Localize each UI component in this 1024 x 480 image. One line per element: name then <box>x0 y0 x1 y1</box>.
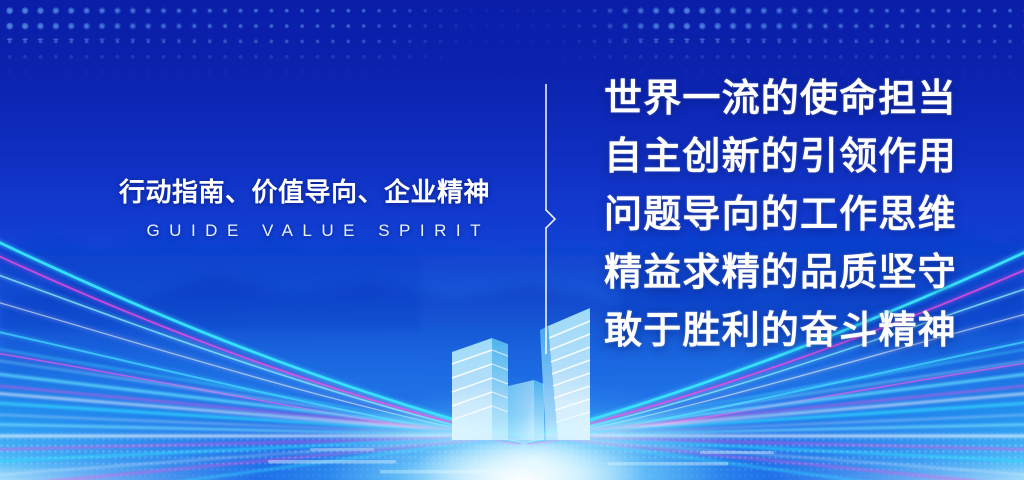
building-middle <box>508 380 544 440</box>
left-slogan-block: 行动指南、价值导向、企业精神 GUIDE VALUE SPIRIT <box>0 178 490 241</box>
slogan-line-4: 精益求精的品质坚守 <box>604 244 957 302</box>
slogan-line-3: 问题导向的工作思维 <box>604 186 957 244</box>
dot-grid-pattern-large <box>0 0 1024 40</box>
building-left <box>452 338 508 440</box>
slogan-line-1: 世界一流的使命担当 <box>604 70 957 128</box>
left-english-slogan: GUIDE VALUE SPIRIT <box>0 221 490 241</box>
vertical-divider-with-chevron-right-icon <box>543 84 559 354</box>
slogan-line-5: 敢于胜利的奋斗精神 <box>604 302 957 360</box>
slogan-line-2: 自主创新的引领作用 <box>604 128 957 186</box>
right-slogan-list: 世界一流的使命担当 自主创新的引领作用 问题导向的工作思维 精益求精的品质坚守 … <box>604 70 957 360</box>
corporate-culture-banner: 行动指南、价值导向、企业精神 GUIDE VALUE SPIRIT 世界一流的使… <box>0 0 1024 480</box>
city-buildings-illustration <box>430 290 630 460</box>
dot-grid-pattern <box>0 0 1024 78</box>
left-chinese-slogan: 行动指南、价值导向、企业精神 <box>0 178 490 208</box>
